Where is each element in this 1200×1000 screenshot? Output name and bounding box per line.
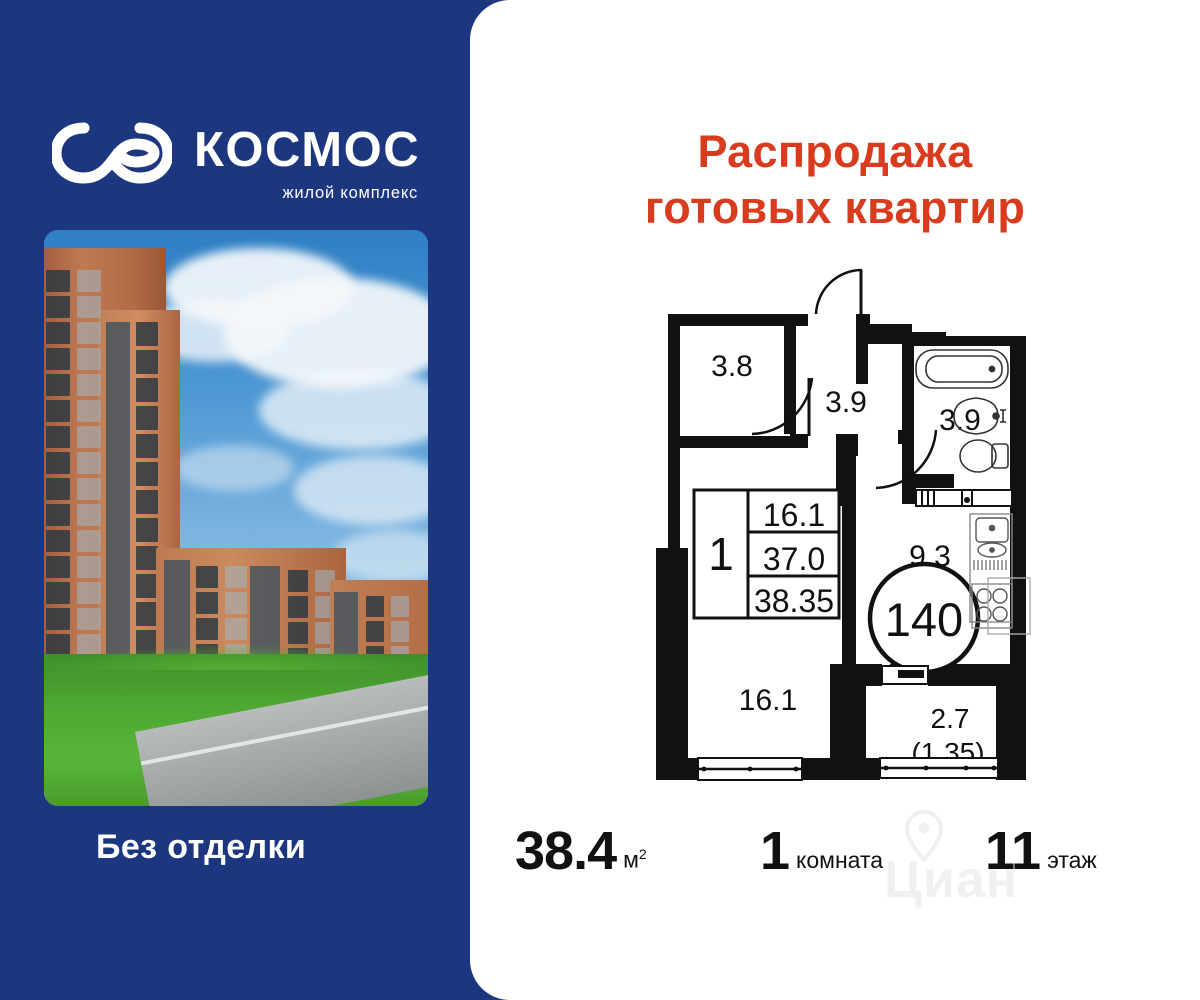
room-label-balcony: 2.7 bbox=[931, 703, 970, 734]
cloud bbox=[174, 445, 294, 491]
summary-area-value: 38.4 bbox=[515, 824, 616, 878]
plan-total-area: 37.0 bbox=[763, 541, 825, 577]
promo-headline-line2: готовых квартир bbox=[470, 180, 1200, 236]
summary-rooms: 1 комната bbox=[760, 824, 883, 878]
summary-floor-unit: этаж bbox=[1047, 849, 1097, 872]
summary-floor: 11 этаж bbox=[985, 824, 1097, 878]
brand-logo: КОСМОС жилой комплекс bbox=[52, 122, 420, 203]
plan-info-table: 1 16.1 37.0 38.35 bbox=[694, 490, 839, 619]
plan-living-area: 16.1 bbox=[763, 497, 825, 533]
promo-headline-line1: Распродажа bbox=[697, 126, 972, 177]
brand-name: КОСМОС bbox=[194, 126, 420, 175]
summary-rooms-unit: комната bbox=[796, 849, 883, 872]
room-label-living-room: 16.1 bbox=[739, 684, 797, 717]
brand-panel: КОСМОС жилой комплекс bbox=[0, 0, 470, 1000]
utility-closet bbox=[916, 490, 1012, 506]
plan-rooms-count: 1 bbox=[708, 528, 734, 580]
summary-area: 38.4 м2 bbox=[515, 824, 647, 878]
apartment-number: 140 bbox=[885, 593, 963, 646]
finish-caption: Без отделки bbox=[96, 828, 306, 867]
building-photo bbox=[44, 230, 428, 806]
floor-plan: 3.8 3.9 3.9 9.3 16.1 2.7 (1.35) bbox=[640, 258, 1052, 810]
room-label-wardrobe: 3.8 bbox=[711, 350, 753, 383]
summary-rooms-value: 1 bbox=[760, 824, 789, 878]
floor-plan-drawing: 3.8 3.9 3.9 9.3 16.1 2.7 (1.35) bbox=[640, 258, 1052, 810]
brand-tagline: жилой комплекс bbox=[194, 184, 420, 203]
summary-area-unit: м2 bbox=[623, 847, 647, 872]
room-label-hallway: 3.9 bbox=[825, 386, 867, 419]
summary-floor-value: 11 bbox=[985, 824, 1040, 878]
plan-total-area-with-balcony: 38.35 bbox=[754, 583, 834, 619]
listing-card: КОСМОС жилой комплекс bbox=[0, 0, 1200, 1000]
toilet-icon bbox=[960, 440, 996, 472]
summary-row: 38.4 м2 1 комната 11 этаж bbox=[470, 818, 1200, 898]
promo-headline: Распродажа готовых квартир bbox=[470, 124, 1200, 236]
room-label-bathroom: 3.9 bbox=[939, 404, 981, 437]
infinity-loop-icon bbox=[52, 122, 172, 184]
